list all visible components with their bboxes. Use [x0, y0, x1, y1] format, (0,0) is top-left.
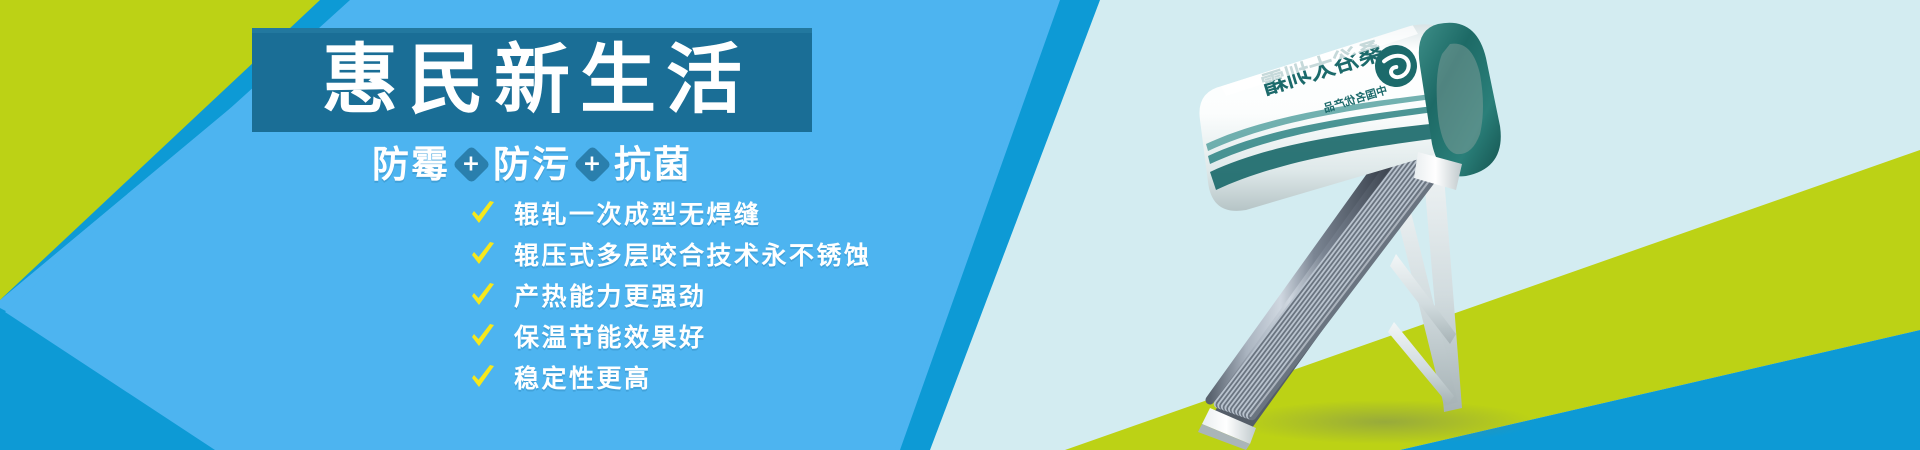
check-icon	[470, 322, 496, 352]
feature-label: 稳定性更高	[514, 366, 652, 391]
feature-label: 辊压式多层咬合技术永不锈蚀	[514, 243, 872, 268]
subtitle-row: 防霉 + 防污 + 抗菌	[252, 140, 812, 188]
feature-list: 辊轧一次成型无焊缝 辊压式多层咬合技术永不锈蚀 产热能力更强劲 保温节能效果好	[470, 196, 872, 401]
feature-item-2: 辊压式多层咬合技术永不锈蚀	[470, 237, 872, 273]
promo-banner: 桑浴太圳霜 中国名优产品 惠民新生活 防	[0, 0, 1920, 450]
storage-tank: 桑浴太圳霜 中国名优产品	[1199, 23, 1500, 211]
subtitle-word-3: 抗菌	[614, 146, 692, 183]
product-shadow	[1235, 400, 1535, 444]
feature-label: 保温节能效果好	[514, 325, 707, 350]
plus-badge-icon-1: +	[452, 145, 490, 183]
subtitle-word-1: 防霉	[372, 146, 450, 183]
plus-glyph: +	[583, 153, 601, 175]
product-image-solar-water-heater: 桑浴太圳霜 中国名优产品	[1150, 4, 1570, 450]
plus-badge-icon-2: +	[573, 145, 611, 183]
subtitle-word-2: 防污	[493, 146, 571, 183]
feature-label: 辊轧一次成型无焊缝	[514, 202, 762, 227]
check-icon	[470, 199, 496, 229]
check-icon	[470, 281, 496, 311]
check-icon	[470, 363, 496, 393]
feature-item-1: 辊轧一次成型无焊缝	[470, 196, 872, 232]
page-title: 惠民新生活	[252, 28, 812, 132]
plus-glyph: +	[462, 153, 480, 175]
feature-item-4: 保温节能效果好	[470, 319, 872, 355]
check-icon	[470, 240, 496, 270]
feature-item-5: 稳定性更高	[470, 360, 872, 396]
feature-item-3: 产热能力更强劲	[470, 278, 872, 314]
feature-label: 产热能力更强劲	[514, 284, 707, 309]
